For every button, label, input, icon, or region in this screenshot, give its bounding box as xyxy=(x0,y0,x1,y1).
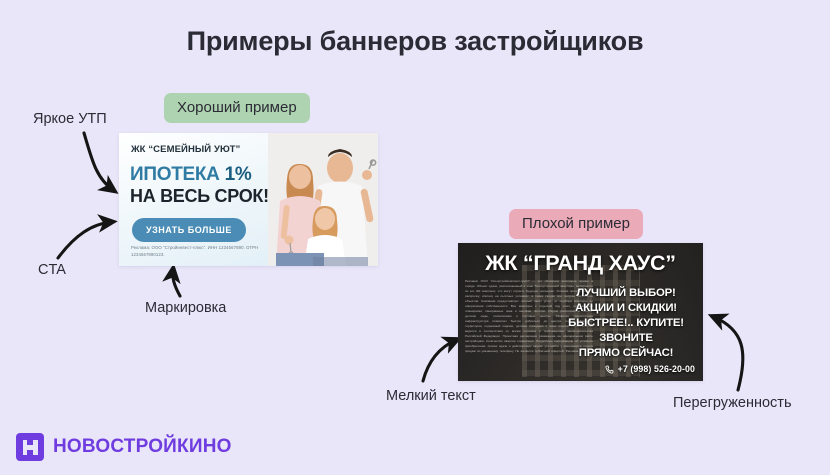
bad-banner-title: ЖК “ГРАНД ХАУС” xyxy=(458,251,703,276)
bad-banner-phone-number: +7 (998) 526-20-00 xyxy=(618,364,695,374)
good-banner-subheadline: НА ВЕСЬ СРОК! xyxy=(130,187,269,205)
footer-logo-text: НОВОСТРОЙКИНО xyxy=(53,436,232,458)
good-banner-headline-accent: 1% xyxy=(225,164,252,185)
page-root: Примеры баннеров застройщиков Хороший пр… xyxy=(0,0,830,475)
good-example-banner[interactable]: ЖК “СЕМЕЙНЫЙ УЮТ” ИПОТЕКА 1% НА ВЕСЬ СРО… xyxy=(119,133,378,266)
arrow-peregruzhennost xyxy=(714,317,743,390)
good-banner-legal-text: Реклама: ООО “Стройинвест-плюс”. ИНН 123… xyxy=(131,245,261,258)
good-banner-family-photo xyxy=(268,133,378,266)
badge-bad-example: Плохой пример xyxy=(509,209,643,239)
logo-crossbar xyxy=(23,445,38,450)
arrow-markirovka xyxy=(173,270,180,296)
annotation-label-cta: CTA xyxy=(38,262,66,278)
novostroykino-logo-icon xyxy=(16,433,44,461)
annotation-label-peregruzhennost: Перегруженность xyxy=(673,395,792,411)
bad-example-banner[interactable]: ЖК “ГРАНД ХАУС” Реклама: ООО “Спецстройк… xyxy=(458,243,703,381)
annotation-label-utp: Яркое УТП xyxy=(33,111,107,127)
footer-logo[interactable]: НОВОСТРОЙКИНО xyxy=(16,433,232,461)
annotation-label-melkiy-tekst: Мелкий текст xyxy=(386,388,476,404)
badge-good-example: Хороший пример xyxy=(164,93,310,123)
good-banner-cta-button[interactable]: УЗНАТЬ БОЛЬШЕ xyxy=(132,218,246,242)
annotation-label-markirovka: Маркировка xyxy=(145,300,226,316)
arrow-utp xyxy=(84,133,113,190)
phone-icon xyxy=(605,365,614,374)
bad-banner-phone[interactable]: +7 (998) 526-20-00 xyxy=(605,364,695,374)
good-banner-headline: ИПОТЕКА 1% xyxy=(130,165,251,184)
page-title: Примеры баннеров застройщиков xyxy=(0,26,830,57)
good-banner-headline-main: ИПОТЕКА xyxy=(130,164,225,185)
arrow-cta xyxy=(58,222,111,258)
bad-banner-claims: ЛУЧШИЙ ВЫБОР!АКЦИИ И СКИДКИ!БЫСТРЕЕ!.. К… xyxy=(556,286,696,330)
bad-banner-call-to-action: ЗВОНИТЕПРЯМО СЕЙЧАС! xyxy=(556,331,696,361)
arrow-melkiy-tekst xyxy=(423,340,456,381)
good-banner-kicker: ЖК “СЕМЕЙНЫЙ УЮТ” xyxy=(131,144,240,155)
